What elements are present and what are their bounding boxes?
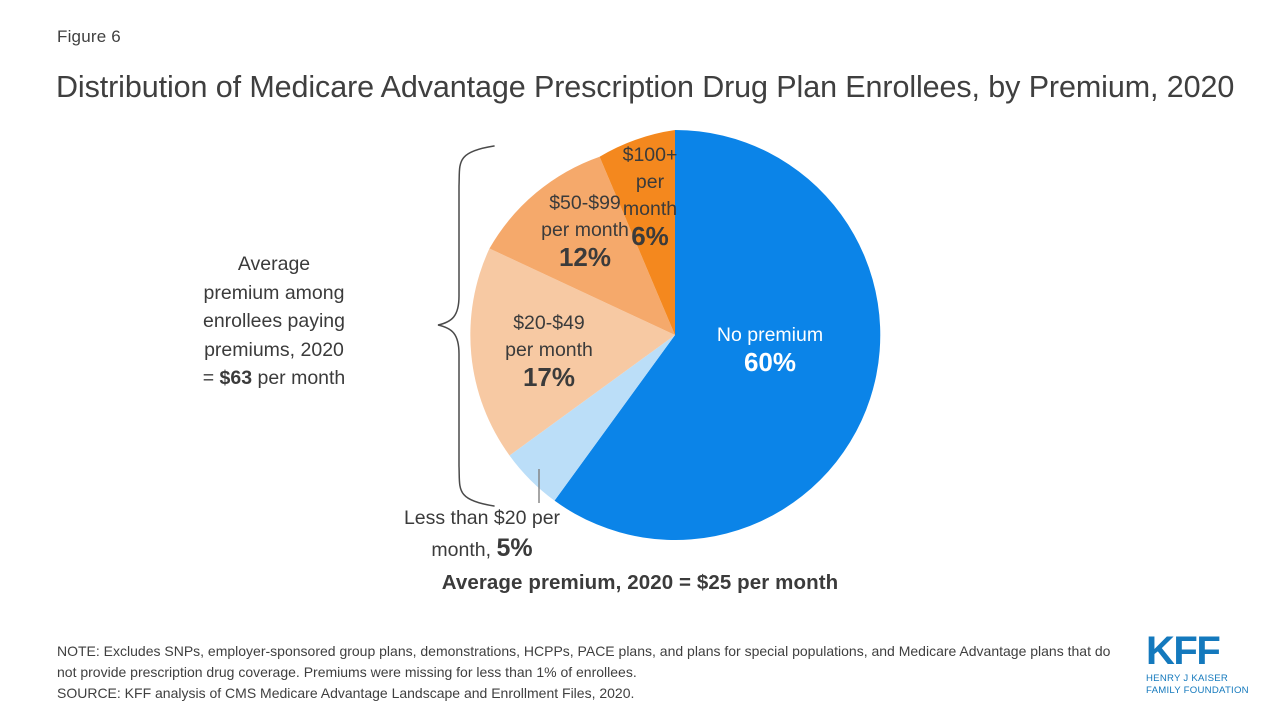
pie-label-50-99-pct: 12% [506,244,664,271]
pie-label-less-than-20-line2: month, [431,539,496,561]
bracket-note-value: $63 [220,367,253,389]
note-text: NOTE: Excludes SNPs, employer-sponsored … [57,641,1117,682]
kff-logo-sub-line1: HENRY J KAISER [1146,673,1256,685]
pie-label-20-49-line2: per month [505,339,593,361]
page-title: Distribution of Medicare Advantage Presc… [56,66,1236,109]
average-premium-paying-note: Average premium among enrollees paying p… [176,250,372,393]
pie-label-no-premium-name: No premium [717,324,823,346]
pie-label-less-than-20-pct: 5% [496,534,532,562]
bracket-note-line2: premium among [204,282,345,304]
bracket-note-line4: premiums, 2020 [204,339,344,361]
pie-label-20-49: $20-$49 per month 17% [477,310,621,391]
pie-label-50-99-line1: $50-$99 [549,192,621,214]
pie-label-100-plus-line1: $100+ [623,144,678,166]
bracket-note-line5-suffix: per month [252,367,345,389]
figure-label: Figure 6 [57,27,121,47]
source-text: SOURCE: KFF analysis of CMS Medicare Adv… [57,683,1117,704]
pie-label-50-99-line2: per month [541,219,629,241]
pie-label-no-premium: No premium 60% [690,322,850,379]
pie-label-less-than-20: Less than $20 per month, 5% [372,503,592,565]
pie-label-less-than-20-line1: Less than $20 per [404,507,560,529]
kff-logo: KFF HENRY J KAISER FAMILY FOUNDATION [1146,632,1256,696]
kff-logo-sub-line2: FAMILY FOUNDATION [1146,685,1256,697]
pie-label-20-49-pct: 17% [477,364,621,391]
bracket-note-line5-prefix: = [203,367,220,389]
pie-label-20-49-line1: $20-$49 [513,312,585,334]
bracket-note-line3: enrollees paying [203,310,345,332]
footnotes: NOTE: Excludes SNPs, employer-sponsored … [57,641,1117,704]
kff-logo-subtitle: HENRY J KAISER FAMILY FOUNDATION [1146,673,1256,696]
pie-label-50-99: $50-$99 per month 12% [506,190,664,271]
average-premium-note: Average premium, 2020 = $25 per month [0,571,1280,595]
bracket-note-line1: Average [238,253,310,275]
pie-label-no-premium-pct: 60% [744,347,796,377]
kff-logo-mark: KFF [1146,632,1256,670]
